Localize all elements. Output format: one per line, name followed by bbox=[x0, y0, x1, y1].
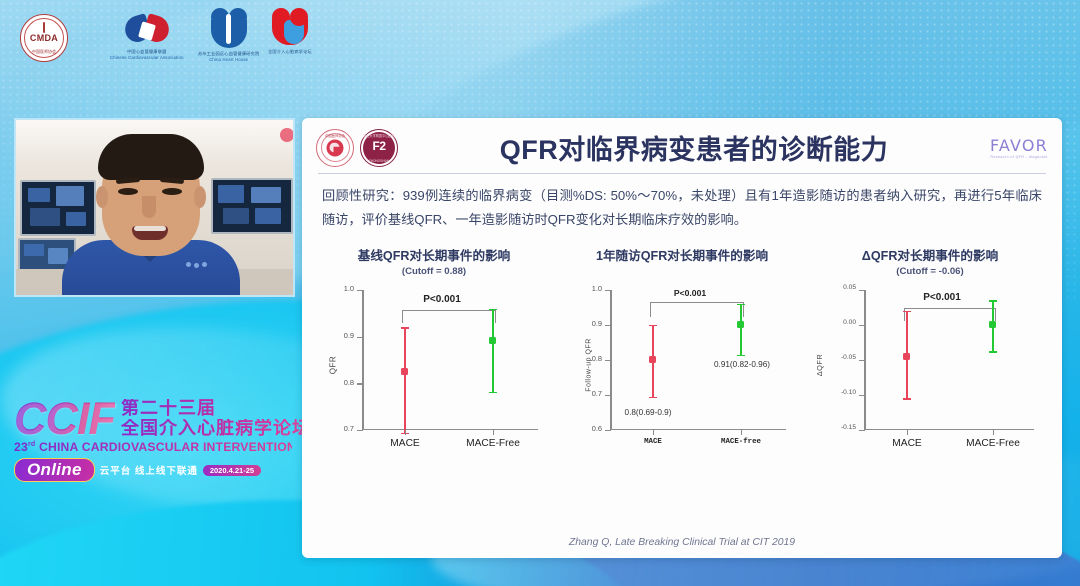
error-bar-mace-free bbox=[492, 309, 494, 394]
y-tick: -0.10 bbox=[859, 395, 865, 396]
favor-logo-subtitle: Research of QFR - diagnosis bbox=[990, 155, 1048, 159]
hospital-seal-right-icon: 复旦大学附属中山医院 F2 ZHONGSHAN bbox=[360, 129, 398, 167]
presentation-slide[interactable]: 中国医师协会 复旦大学附属中山医院 F2 ZHONGSHAN QFR对临界病变患… bbox=[302, 118, 1062, 558]
error-bar-cap-top bbox=[401, 327, 409, 329]
favor-study-logo: FAVOR Research of QFR - diagnosis bbox=[990, 136, 1048, 159]
y-tick-label: 1.0 bbox=[344, 284, 354, 293]
y-tick: 0.00 bbox=[859, 325, 865, 326]
cmda-seal-logo: CMDA 中国医师协会 bbox=[20, 14, 68, 62]
chart-panels: 基线QFR对长期事件的影响 (Cutoff = 0.88) QFR 1.0 0.… bbox=[302, 233, 1062, 531]
hospital-seal-left-icon: 中国医师协会 bbox=[316, 129, 354, 167]
speaker-nose bbox=[142, 196, 156, 218]
error-bar-cap-bottom bbox=[649, 397, 657, 399]
slide-title: QFR对临界病变患者的诊断能力 bbox=[402, 128, 986, 167]
p-value-annotation: P<0.001 bbox=[674, 288, 706, 298]
org-caption-cn: 全国介入心脏病学论坛 bbox=[268, 49, 312, 54]
error-bar-cap-bottom bbox=[989, 351, 997, 353]
hospital-seal-left-emblem bbox=[327, 140, 344, 157]
favor-logo-text: FAVOR bbox=[990, 136, 1048, 155]
chart-plot-area: QFR 1.0 0.9 0.8 0.7 P<0.001 MACE bbox=[322, 280, 546, 450]
x-tick bbox=[405, 430, 406, 435]
slide-header: 中国医师协会 复旦大学附属中山医院 F2 ZHONGSHAN QFR对临界病变患… bbox=[302, 118, 1062, 171]
ccif-event-branding: CCIF 第二十三届 全国介入心脏病学论坛 23rd CHINA CARDIOV… bbox=[14, 398, 292, 514]
y-tick-label: 1.0 bbox=[592, 284, 602, 293]
heart-staff-icon bbox=[207, 14, 251, 50]
data-point-marker bbox=[401, 368, 408, 375]
x-tick bbox=[993, 430, 994, 435]
chart-subtitle: (Cutoff = -0.06) bbox=[896, 266, 963, 278]
slide-citation: Zhang Q, Late Breaking Clinical Trial at… bbox=[302, 531, 1062, 558]
y-tick: 0.9 bbox=[357, 337, 363, 338]
x-tick-label: MACE bbox=[390, 438, 419, 449]
significance-bracket bbox=[904, 308, 996, 321]
data-point-marker bbox=[489, 337, 496, 344]
speaker-hair bbox=[98, 134, 204, 180]
y-tick-label: -0.10 bbox=[841, 389, 856, 396]
heart-hands-icon bbox=[123, 14, 171, 48]
video-background bbox=[16, 120, 293, 295]
y-tick: -0.05 bbox=[859, 360, 865, 361]
x-axis-line bbox=[610, 429, 786, 431]
x-tick-label: MACE-Free bbox=[466, 438, 520, 449]
y-tick: 0.9 bbox=[605, 325, 611, 326]
red-heart-outer bbox=[272, 19, 308, 45]
staff-shape bbox=[226, 14, 231, 44]
y-tick-label: 0.8 bbox=[592, 354, 602, 363]
org-caption-cn: 中国心血管健康联盟 bbox=[127, 49, 167, 54]
error-bar-cap-top bbox=[903, 311, 911, 313]
china-heart-house-logo: 苏州工业园区心血管健康研究院 China Heart House bbox=[198, 14, 259, 63]
y-axis-title: ΔQFR bbox=[815, 354, 824, 377]
error-bar-mace bbox=[404, 327, 406, 434]
speaker-ear-left bbox=[96, 186, 108, 208]
chart-title: 1年随访QFR对长期事件的影响 bbox=[596, 245, 768, 264]
x-tick bbox=[493, 430, 494, 435]
x-tick-label: MACE-free bbox=[721, 438, 761, 446]
ccif-acronym: CCIF bbox=[14, 398, 115, 439]
x-tick-label: MACE bbox=[644, 438, 662, 446]
data-label-mace-free: 0.91(0.82-0.96) bbox=[714, 360, 770, 369]
hospital-seal-right-bottom-text: ZHONGSHAN bbox=[369, 159, 389, 163]
p-value-annotation: P<0.001 bbox=[423, 294, 461, 305]
y-tick: 0.6 bbox=[605, 430, 611, 431]
y-tick-label: 0.8 bbox=[344, 378, 354, 387]
cmda-abbr: CMDA bbox=[30, 33, 58, 43]
chart-panel-baseline-qfr: 基线QFR对长期事件的影响 (Cutoff = 0.88) QFR 1.0 0.… bbox=[310, 245, 558, 531]
ccif-edition-cn: 第二十三届 bbox=[121, 399, 311, 419]
error-bar-cap-top bbox=[989, 300, 997, 302]
org-caption-cn: 苏州工业园区心血管健康研究院 bbox=[198, 51, 259, 56]
scrubs-emblem bbox=[186, 262, 210, 274]
speaker-teeth bbox=[134, 226, 166, 231]
error-bar-cap-bottom bbox=[903, 398, 911, 400]
y-tick: 0.05 bbox=[859, 290, 865, 291]
x-tick-label: MACE-Free bbox=[966, 438, 1020, 449]
error-bar-mace bbox=[652, 325, 654, 399]
error-bar-cap-top bbox=[489, 309, 497, 311]
ccif-title-row: CCIF 第二十三届 全国介入心脏病学论坛 bbox=[14, 398, 292, 439]
y-tick-label: 0.7 bbox=[344, 424, 354, 433]
ccif-english-name: 23rd CHINA CARDIOVASCULAR INTERVENTION F… bbox=[14, 440, 292, 454]
y-tick: 0.8 bbox=[605, 360, 611, 361]
y-tick: 1.0 bbox=[605, 290, 611, 291]
hospital-seal-right-emblem: F2 bbox=[372, 139, 385, 153]
x-tick bbox=[741, 430, 742, 435]
error-bar-mace-free bbox=[992, 300, 994, 353]
y-tick-label: -0.05 bbox=[841, 354, 856, 361]
ccif-edition-ordinal: rd bbox=[28, 441, 35, 448]
y-tick: 0.7 bbox=[357, 430, 363, 431]
y-tick-label: 0.7 bbox=[592, 389, 602, 398]
chart-plot-area: Follow-up QFR 1.0 0.9 0.8 0.7 0.6 P<0.00… bbox=[570, 280, 794, 450]
x-tick-label: MACE bbox=[892, 438, 921, 449]
org-caption-en: China Heart House bbox=[209, 57, 248, 62]
data-point-marker bbox=[737, 321, 744, 328]
error-bar-cap-bottom bbox=[489, 392, 497, 394]
p-value-annotation: P<0.001 bbox=[923, 292, 961, 303]
data-point-marker bbox=[649, 356, 656, 363]
y-tick: 0.7 bbox=[605, 395, 611, 396]
y-tick-label: -0.15 bbox=[841, 424, 856, 431]
significance-bracket bbox=[402, 310, 496, 323]
y-tick-label: 0.9 bbox=[344, 331, 354, 340]
chinese-cardiovascular-association-logo: 中国心血管健康联盟 Chinese Cardiovascular Associa… bbox=[110, 14, 184, 61]
red-heart-inner bbox=[284, 27, 304, 44]
error-bar-mace bbox=[906, 311, 908, 400]
y-tick-label: 0.9 bbox=[592, 319, 602, 328]
chart-plot-area: ΔQFR 0.05 0.00 -0.05 -0.10 -0.15 P<0.001… bbox=[818, 280, 1042, 450]
y-tick: -0.15 bbox=[859, 430, 865, 431]
speaker-eye-right bbox=[162, 188, 182, 195]
y-axis-line bbox=[362, 290, 364, 430]
ccif-forum-name-cn: 全国介入心脏病学论坛 bbox=[121, 419, 311, 439]
hospital-seal-right-top-text: 复旦大学附属中山医院 bbox=[363, 133, 395, 138]
y-axis-title: QFR bbox=[329, 356, 338, 374]
ccif-edition-number: 23 bbox=[14, 440, 28, 454]
y-tick-label: 0.6 bbox=[592, 424, 602, 433]
chart-subtitle: (Cutoff = 0.88) bbox=[402, 266, 466, 278]
cmda-staff-icon bbox=[43, 22, 45, 33]
ccif-chinese-lines: 第二十三届 全国介入心脏病学论坛 bbox=[121, 399, 311, 439]
x-tick bbox=[907, 430, 908, 435]
x-tick bbox=[653, 430, 654, 435]
cmda-seal-icon: CMDA 中国医师协会 bbox=[20, 14, 68, 62]
speaker-eye-left bbox=[118, 188, 138, 195]
y-tick-label: 0.05 bbox=[843, 284, 856, 291]
ccif-online-row: Online 云平台 线上线下联通 2020.4.21-25 bbox=[14, 458, 292, 482]
chart-panel-followup-qfr: 1年随访QFR对长期事件的影响 Follow-up QFR 1.0 0.9 0.… bbox=[558, 245, 806, 531]
online-badge: Online bbox=[14, 458, 95, 482]
x-axis-line bbox=[864, 429, 1034, 431]
error-bar-cap-top bbox=[737, 304, 745, 306]
significance-bracket bbox=[650, 302, 744, 317]
data-label-mace: 0.8(0.69-0.9) bbox=[625, 408, 672, 417]
ccif-tagline: 云平台 线上线下联通 bbox=[100, 463, 198, 477]
ccif-forum-name-en: CHINA CARDIOVASCULAR INTERVENTION FORUM bbox=[39, 440, 345, 454]
chart-title: 基线QFR对长期事件的影响 bbox=[358, 245, 511, 264]
event-date-badge: 2020.4.21-25 bbox=[203, 465, 261, 476]
video-corner-badge bbox=[280, 128, 294, 142]
y-axis-title: Follow-up QFR bbox=[585, 338, 592, 392]
cmda-caption: 中国医师协会 bbox=[32, 49, 56, 55]
speaker-video-feed[interactable] bbox=[14, 118, 295, 297]
data-point-marker bbox=[989, 321, 996, 328]
data-point-marker bbox=[903, 353, 910, 360]
org-caption-en: Chinese Cardiovascular Association bbox=[110, 55, 184, 60]
chart-panel-delta-qfr: ΔQFR对长期事件的影响 (Cutoff = -0.06) ΔQFR 0.05 … bbox=[806, 245, 1054, 531]
error-bar-cap-bottom bbox=[737, 355, 745, 357]
slide-body-text: 回顾性研究：939例连续的临界病变（目测%DS: 50%～70%，未处理）且有1… bbox=[302, 174, 1062, 233]
speaker-ear-right bbox=[194, 186, 206, 208]
x-axis-line bbox=[362, 429, 538, 431]
error-bar-cap-top bbox=[649, 325, 657, 327]
error-bar-mace-free bbox=[740, 304, 742, 357]
red-heart-icon bbox=[268, 14, 312, 48]
hospital-seal-left-text: 中国医师协会 bbox=[325, 133, 345, 138]
speaker-portrait bbox=[68, 134, 234, 295]
y-tick: 0.8 bbox=[357, 383, 363, 384]
organization-logo-bar: CMDA 中国医师协会 中国心血管健康联盟 Chinese Cardiovasc… bbox=[0, 0, 1080, 78]
chart-title: ΔQFR对长期事件的影响 bbox=[862, 245, 998, 264]
y-tick-label: 0.00 bbox=[843, 319, 856, 326]
national-interventional-cardiology-forum-logo: 全国介入心脏病学论坛 bbox=[268, 14, 312, 54]
y-tick: 1.0 bbox=[357, 290, 363, 291]
